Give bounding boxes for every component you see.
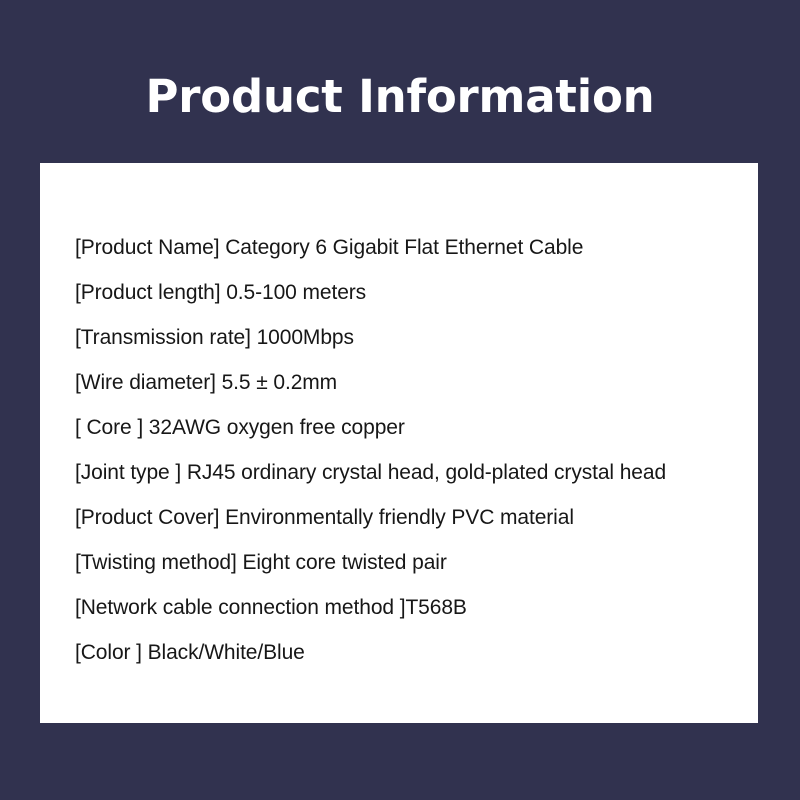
product-information-page: Product Information [Product Name] Categ… bbox=[0, 0, 800, 800]
spec-line-wire-diameter: [Wire diameter] 5.5 ± 0.2mm bbox=[75, 360, 724, 405]
spec-line-product-name: [Product Name] Category 6 Gigabit Flat E… bbox=[75, 225, 724, 270]
spec-line-connection-method: [Network cable connection method ]T568B bbox=[75, 585, 724, 630]
spec-line-product-length: [Product length] 0.5-100 meters bbox=[75, 270, 724, 315]
spec-line-core: [ Core ] 32AWG oxygen free copper bbox=[75, 405, 724, 450]
page-title: Product Information bbox=[0, 70, 800, 124]
specification-card: [Product Name] Category 6 Gigabit Flat E… bbox=[40, 163, 758, 723]
spec-line-product-cover: [Product Cover] Environmentally friendly… bbox=[75, 495, 724, 540]
spec-line-transmission-rate: [Transmission rate] 1000Mbps bbox=[75, 315, 724, 360]
spec-line-joint-type: [Joint type ] RJ45 ordinary crystal head… bbox=[75, 450, 724, 495]
spec-line-twisting-method: [Twisting method] Eight core twisted pai… bbox=[75, 540, 724, 585]
spec-line-color: [Color ] Black/White/Blue bbox=[75, 630, 724, 675]
